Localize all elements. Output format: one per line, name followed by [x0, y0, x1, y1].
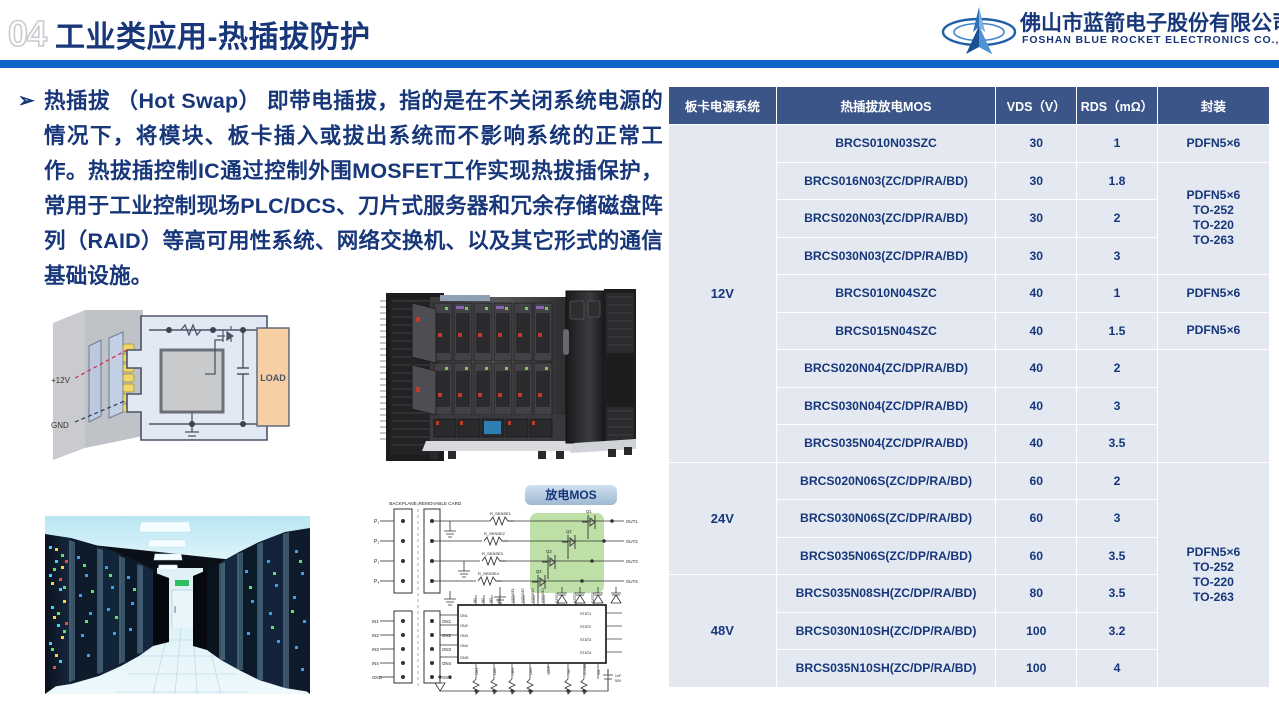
company-name-cn: 佛山市蓝箭电子股份有限公司: [1020, 7, 1279, 37]
svg-text:IN2: IN2: [372, 633, 379, 638]
svg-text:IN4: IN4: [497, 598, 501, 603]
column-header-mos: 热插拔放电MOS: [776, 87, 996, 125]
column-header-rds: RDS（mΩ）: [1077, 87, 1158, 125]
blue-rocket-arrow-logo: [940, 6, 1018, 56]
svg-text:P₃: P₃: [374, 559, 379, 565]
cell-rds: 2: [1077, 350, 1158, 388]
svg-text:ON3: ON3: [442, 647, 452, 652]
cell-power-system: 48V: [669, 575, 777, 688]
svg-text:LIM4: LIM4: [529, 668, 533, 675]
svg-text:P₂: P₂: [374, 539, 379, 545]
cell-mos-part: BRCS035N04(ZC/DP/RA/BD): [776, 425, 996, 463]
svg-text:IN1: IN1: [372, 619, 379, 624]
cell-mos-part: BRCS015N04SZC: [776, 312, 996, 350]
cell-package: PDFN5×6: [1157, 275, 1269, 313]
cell-package: [1157, 350, 1269, 463]
cell-mos-part: BRCS035N10SH(ZC/DP/RA/BD): [776, 650, 996, 688]
svg-text:REMOVABLE CARD: REMOVABLE CARD: [419, 501, 462, 506]
cell-package: PDFN5×6TO-252TO-220TO-263: [1157, 462, 1269, 687]
arrow-bullet-icon: ➢: [18, 84, 44, 118]
svg-text:STAT2: STAT2: [580, 625, 591, 629]
slide-root: 04 工业类应用-热插拔防护 佛山市蓝箭电子股份有限公司 FOSHAN BLUE…: [0, 0, 1279, 720]
column-header-system: 板卡电源系统: [669, 87, 777, 125]
page-title: 工业类应用-热插拔防护: [55, 12, 371, 56]
figure-label-load: LOAD: [260, 373, 286, 383]
cell-vds: 40: [996, 350, 1077, 388]
cell-mos-part: BRCS020N06S(ZC/DP/RA/BD): [776, 462, 996, 500]
cell-vds: 40: [996, 312, 1077, 350]
cell-mos-part: BRCS030N03(ZC/DP/RA/BD): [776, 237, 996, 275]
svg-text:ON1: ON1: [460, 614, 468, 618]
svg-text:LIM2: LIM2: [493, 668, 497, 675]
cell-vds: 30: [996, 162, 1077, 200]
svg-text:Q3: Q3: [546, 549, 552, 554]
cell-package: PDFN5×6TO-252TO-220TO-263: [1157, 162, 1269, 275]
cell-mos-part: BRCS020N03(ZC/DP/RA/BD): [776, 200, 996, 238]
svg-text:GATE1: GATE1: [555, 593, 559, 603]
svg-text:BACKPLANE: BACKPLANE: [389, 501, 417, 506]
cell-power-system: 12V: [669, 125, 777, 463]
cell-mos-part: BRCS030N06S(ZC/DP/RA/BD): [776, 500, 996, 538]
hot-swap-application-schematic: 放电MOS BACKPLANE REMOVABLE CARD P₁P₂: [372, 483, 648, 698]
cell-vds: 80: [996, 575, 1077, 613]
cell-mos-part: BRCS010N03SZC: [776, 125, 996, 163]
svg-text:VIN: VIN: [597, 669, 601, 675]
slide-header: 04 工业类应用-热插拔防护 佛山市蓝箭电子股份有限公司 FOSHAN BLUE…: [0, 0, 1279, 68]
svg-text:VSENSE3: VSENSE3: [531, 588, 535, 603]
svg-text:LIM3: LIM3: [511, 668, 515, 675]
cell-mos-part: BRCS035N08SH(ZC/DP/RA/BD): [776, 575, 996, 613]
cell-vds: 40: [996, 425, 1077, 463]
header-divider: [0, 60, 1279, 68]
svg-text:CDSBN: CDSBN: [583, 663, 587, 675]
figure-label-gnd: GND: [51, 421, 69, 430]
column-header-vds: VDS（V）: [996, 87, 1077, 125]
svg-text:OUT2: OUT2: [626, 539, 638, 544]
svg-text:Q1: Q1: [586, 509, 592, 514]
cell-vds: 40: [996, 275, 1077, 313]
svg-text:Q4: Q4: [536, 569, 542, 574]
svg-text:IN3: IN3: [489, 598, 493, 603]
cell-vds: 30: [996, 125, 1077, 163]
svg-text:R_SENSE2: R_SENSE2: [484, 531, 506, 536]
svg-text:STAT1: STAT1: [580, 612, 591, 616]
cell-package: PDFN5×6: [1157, 125, 1269, 163]
svg-text:ON3: ON3: [460, 634, 468, 638]
table-header-row: 板卡电源系统 热插拔放电MOS VDS（V） RDS（mΩ） 封装: [669, 87, 1270, 125]
svg-text:ON1: ON1: [442, 619, 452, 624]
table-row: 12VBRCS010N03SZC301PDFN5×6: [669, 125, 1270, 163]
cell-vds: 60: [996, 537, 1077, 575]
company-name-en: FOSHAN BLUE ROCKET ELECTRONICS CO.,LTD.: [1022, 34, 1279, 46]
svg-text:P₁: P₁: [374, 519, 379, 525]
cell-vds: 100: [996, 650, 1077, 688]
cell-vds: 30: [996, 200, 1077, 238]
svg-text:GATE2: GATE2: [573, 593, 577, 603]
table-row: 24VBRCS020N06S(ZC/DP/RA/BD)602PDFN5×6TO-…: [669, 462, 1270, 500]
section-number: 04: [8, 13, 46, 55]
cell-rds: 3: [1077, 500, 1158, 538]
svg-text:VSENSE2: VSENSE2: [521, 588, 525, 603]
svg-text:50V: 50V: [615, 679, 622, 683]
table-head: 板卡电源系统 热插拔放电MOS VDS（V） RDS（mΩ） 封装: [669, 87, 1270, 125]
cell-vds: 60: [996, 462, 1077, 500]
body-bullet-block: ➢ 热插拔 （Hot Swap） 即带电插拔，指的是在不关闭系统电源的情况下，将…: [18, 84, 663, 294]
cell-mos-part: BRCS016N03(ZC/DP/RA/BD): [776, 162, 996, 200]
svg-text:R_SENSE1: R_SENSE1: [490, 511, 512, 516]
cell-mos-part: BRCS010N04SZC: [776, 275, 996, 313]
svg-text:IN3: IN3: [372, 647, 379, 652]
cell-rds: 4: [1077, 650, 1158, 688]
cell-rds: 1: [1077, 275, 1158, 313]
cell-mos-part: BRCS030N04(ZC/DP/RA/BD): [776, 387, 996, 425]
svg-text:R_SENSE4: R_SENSE4: [478, 571, 500, 576]
cell-package: PDFN5×6: [1157, 312, 1269, 350]
svg-text:ON2: ON2: [460, 624, 468, 628]
schematic-callout-label: 放电MOS: [544, 487, 596, 502]
cell-rds: 1.8: [1077, 162, 1158, 200]
cell-rds: 1: [1077, 125, 1158, 163]
cell-mos-part: BRCS020N04(ZC/DP/RA/BD): [776, 350, 996, 388]
svg-text:TIM: TIM: [567, 669, 571, 675]
blade-server-chassis-photo: [378, 287, 640, 472]
cell-rds: 2: [1077, 462, 1158, 500]
data-center-aisle-photo: [45, 516, 310, 694]
table-body: 12VBRCS010N03SZC301PDFN5×6BRCS016N03(ZC/…: [669, 125, 1270, 688]
cell-rds: 3.2: [1077, 612, 1158, 650]
svg-text:GATE3: GATE3: [591, 593, 595, 603]
cell-power-system: 24V: [669, 462, 777, 575]
cell-rds: 3.5: [1077, 425, 1158, 463]
cell-rds: 3.5: [1077, 575, 1158, 613]
svg-text:ON4: ON4: [460, 644, 468, 648]
svg-text:IN4: IN4: [372, 661, 379, 666]
svg-text:LIM1: LIM1: [475, 668, 479, 675]
cell-vds: 100: [996, 612, 1077, 650]
cell-mos-part: BRCS030N10SH(ZC/DP/RA/BD): [776, 612, 996, 650]
svg-text:OUT4: OUT4: [626, 579, 638, 584]
mosfet-selection-table: 板卡电源系统 热插拔放电MOS VDS（V） RDS（mΩ） 封装 12VBRC…: [668, 86, 1270, 688]
svg-text:Q2: Q2: [566, 529, 572, 534]
cell-vds: 40: [996, 387, 1077, 425]
hot-swap-circuit-diagram: LOAD +12V GND: [45, 288, 303, 470]
svg-text:STAT3: STAT3: [580, 638, 591, 642]
column-header-package: 封装: [1157, 87, 1269, 125]
cell-rds: 3.5: [1077, 537, 1158, 575]
svg-text:IN1: IN1: [473, 598, 477, 603]
cell-rds: 2: [1077, 200, 1158, 238]
svg-text:VDDP: VDDP: [547, 666, 551, 675]
svg-text:OUT1: OUT1: [626, 519, 638, 524]
figure-label-12v: +12V: [51, 376, 71, 385]
cell-rds: 3: [1077, 237, 1158, 275]
cell-vds: 60: [996, 500, 1077, 538]
cell-rds: 3: [1077, 387, 1158, 425]
bullet-item: ➢ 热插拔 （Hot Swap） 即带电插拔，指的是在不关闭系统电源的情况下，将…: [18, 84, 663, 294]
svg-text:IN2: IN2: [481, 598, 485, 603]
svg-text:VSENSE1: VSENSE1: [511, 588, 515, 603]
cell-vds: 30: [996, 237, 1077, 275]
svg-text:OUT3: OUT3: [626, 559, 638, 564]
svg-text:P₄: P₄: [374, 579, 379, 585]
svg-text:STAT4: STAT4: [580, 651, 591, 655]
body-paragraph: 热插拔 （Hot Swap） 即带电插拔，指的是在不关闭系统电源的情况下，将模块…: [44, 84, 663, 294]
svg-text:ON4: ON4: [442, 661, 452, 666]
svg-text:VSENSE4: VSENSE4: [541, 588, 545, 603]
cell-rds: 1.5: [1077, 312, 1158, 350]
svg-text:GND: GND: [460, 656, 469, 660]
svg-text:ON2: ON2: [442, 633, 452, 638]
svg-text:1nF: 1nF: [615, 674, 621, 678]
company-logo: 佛山市蓝箭电子股份有限公司 FOSHAN BLUE ROCKET ELECTRO…: [940, 6, 1270, 58]
svg-text:R_SENSE3: R_SENSE3: [482, 551, 504, 556]
svg-text:GND: GND: [372, 675, 382, 680]
cell-mos-part: BRCS035N06S(ZC/DP/RA/BD): [776, 537, 996, 575]
